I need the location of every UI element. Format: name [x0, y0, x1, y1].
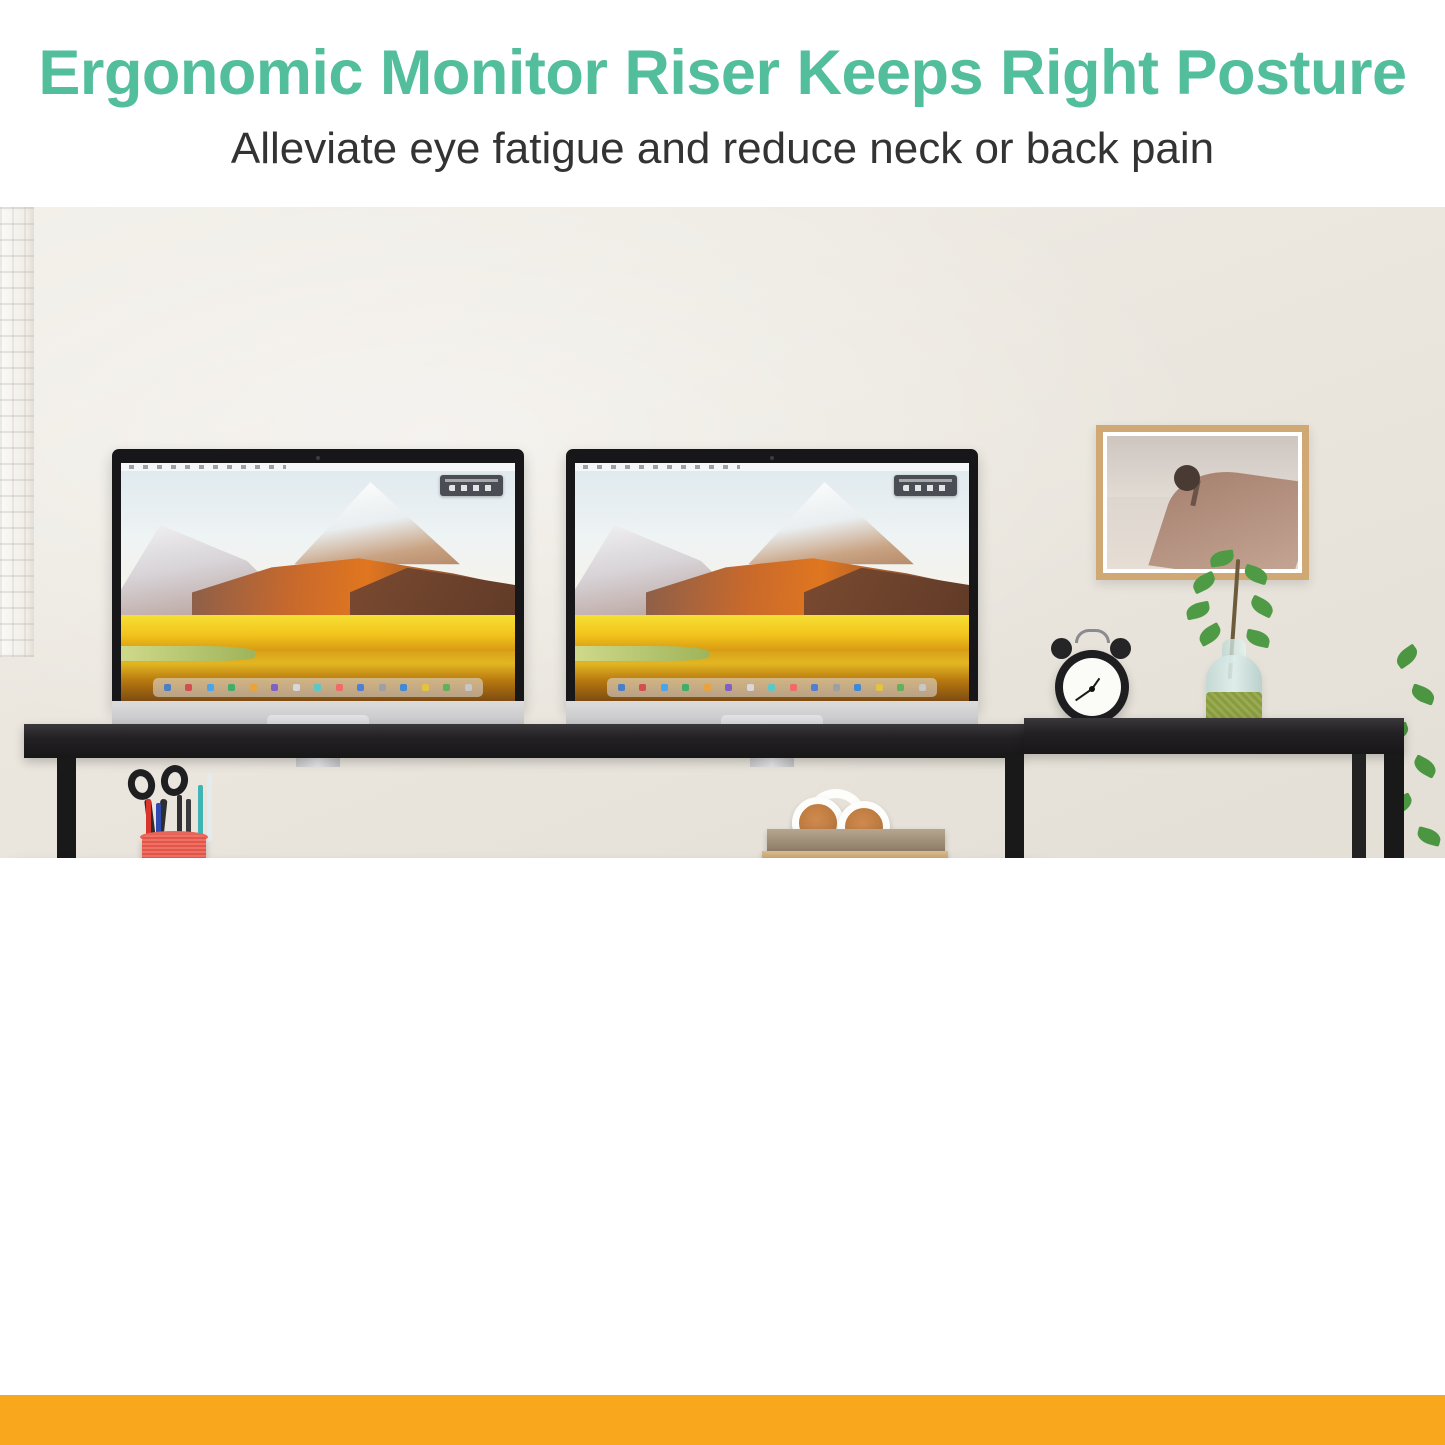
plant-leaf	[1393, 643, 1421, 669]
dock-icon-finder[interactable]	[164, 684, 171, 691]
wallpaper	[575, 463, 969, 701]
clock-handle	[1075, 629, 1110, 643]
wallpaper-shore	[575, 646, 709, 660]
dock-icon-photos[interactable]	[271, 684, 278, 691]
dock-icon-safari[interactable]	[661, 684, 668, 691]
dock-icon-settings[interactable]	[833, 684, 840, 691]
clock-bell-left	[1051, 638, 1072, 659]
dock-icon-maps[interactable]	[400, 684, 407, 691]
ruler	[207, 773, 212, 841]
dock[interactable]	[153, 678, 484, 697]
riser-leg	[1005, 754, 1024, 858]
book	[762, 851, 948, 858]
dock-icon-contacts[interactable]	[747, 684, 754, 691]
dock-icon-safari[interactable]	[207, 684, 214, 691]
dock-icon-messages[interactable]	[228, 684, 235, 691]
wall-art-frame	[1096, 425, 1309, 580]
dock-icon-notes[interactable]	[876, 684, 883, 691]
monitor-screen	[121, 463, 515, 701]
wallpaper-shore	[121, 646, 255, 660]
plant-leaf	[1411, 754, 1439, 779]
dock-icon-facetime[interactable]	[768, 684, 775, 691]
posture-comparison	[0, 858, 1445, 1445]
dock-icon-finder[interactable]	[618, 684, 625, 691]
monitor-riser-shelf-right	[1024, 718, 1404, 754]
riser-leg	[1384, 754, 1404, 858]
dock-icon-contacts[interactable]	[293, 684, 300, 691]
dock-icon-trash[interactable]	[465, 684, 472, 691]
wallpaper	[121, 463, 515, 701]
plant-leaf	[1409, 683, 1437, 705]
page-subtitle: Alleviate eye fatigue and reduce neck or…	[0, 127, 1445, 171]
dock-icon-messages[interactable]	[682, 684, 689, 691]
dock-icon-settings[interactable]	[379, 684, 386, 691]
dock-icon-mail[interactable]	[250, 684, 257, 691]
page-title: Ergonomic Monitor Riser Keeps Right Post…	[0, 42, 1445, 105]
dock-icon-maps[interactable]	[854, 684, 861, 691]
floor	[0, 1395, 1445, 1445]
desktop-widget[interactable]	[440, 475, 503, 496]
dock-icon-launchpad[interactable]	[185, 684, 192, 691]
dock-icon-mail[interactable]	[704, 684, 711, 691]
dock-icon-appstore[interactable]	[357, 684, 364, 691]
dock-icon-notes[interactable]	[422, 684, 429, 691]
product-photo: THRIFT EPSON EPSON	[0, 207, 1445, 858]
monitor-riser-shelf-left	[24, 724, 1024, 758]
monitor-screen	[575, 463, 969, 701]
dock-icon-trash[interactable]	[919, 684, 926, 691]
desktop-widget[interactable]	[894, 475, 957, 496]
clock-pin	[1089, 686, 1095, 692]
dock[interactable]	[607, 678, 938, 697]
dock-icon-music[interactable]	[336, 684, 343, 691]
book	[767, 829, 945, 851]
art-tree	[1174, 465, 1200, 491]
dock-icon-launchpad[interactable]	[639, 684, 646, 691]
menu-bar-items[interactable]	[129, 465, 287, 469]
dock-icon-facetime[interactable]	[314, 684, 321, 691]
webcam-icon	[316, 456, 320, 460]
webcam-icon	[770, 456, 774, 460]
dock-icon-photos[interactable]	[725, 684, 732, 691]
pen-holder	[142, 835, 206, 858]
riser-leg	[57, 758, 76, 858]
menu-bar-items[interactable]	[583, 465, 741, 469]
dock-icon-appstore[interactable]	[811, 684, 818, 691]
dock-icon-calendar[interactable]	[443, 684, 450, 691]
dock-icon-music[interactable]	[790, 684, 797, 691]
plant-leaf	[1415, 826, 1442, 847]
dock-icon-calendar[interactable]	[897, 684, 904, 691]
wall-art-image	[1107, 436, 1298, 569]
curtain	[0, 207, 34, 657]
riser-leg	[1352, 754, 1366, 858]
header-section: Ergonomic Monitor Riser Keeps Right Post…	[0, 0, 1445, 207]
